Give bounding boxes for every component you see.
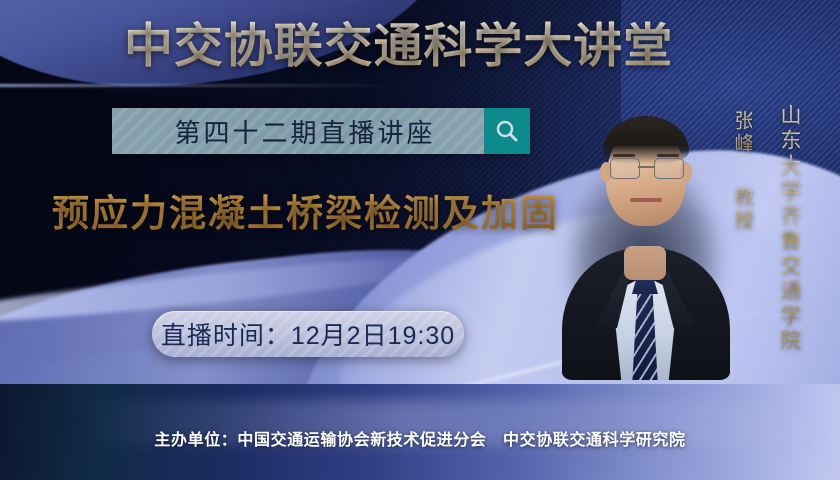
portrait-mouth (630, 198, 662, 202)
page-title: 中交协联交通科学大讲堂 (124, 16, 740, 76)
portrait-glasses-left-lens (610, 158, 640, 179)
speaker-title: 教授 (732, 186, 752, 232)
portrait-glasses-right-lens (654, 158, 684, 179)
episode-label: 第四十二期直播讲座 (112, 113, 484, 150)
portrait-eyebrow-left (613, 154, 635, 157)
speaker-portrait (556, 104, 732, 380)
episode-banner: 第四十二期直播讲座 (112, 108, 530, 154)
lecture-poster: 中交协联交通科学大讲堂 中交协联交通科学大讲堂 第四十二期直播讲座 预应力混凝土… (0, 0, 840, 480)
broadcast-time-label: 直播时间：12月2日19:30 (161, 316, 455, 352)
decor-top-swoosh-highlight (0, 84, 403, 87)
broadcast-time-pill: 直播时间：12月2日19:30 (152, 311, 464, 357)
lecture-topic: 预应力混凝土桥梁检测及加固 (52, 186, 559, 242)
speaker-affiliation: 山东大学齐鲁交通学院 (779, 104, 800, 354)
portrait-neck (624, 246, 666, 280)
organizer-line: 主办单位：中国交通运输协会新技术促进分会 中交协联交通科学研究院 (0, 426, 840, 450)
portrait-eyebrow-right (657, 154, 679, 157)
speaker-name: 张峰 (732, 110, 752, 156)
portrait-glasses-bridge (638, 166, 654, 168)
search-icon[interactable] (484, 108, 530, 154)
